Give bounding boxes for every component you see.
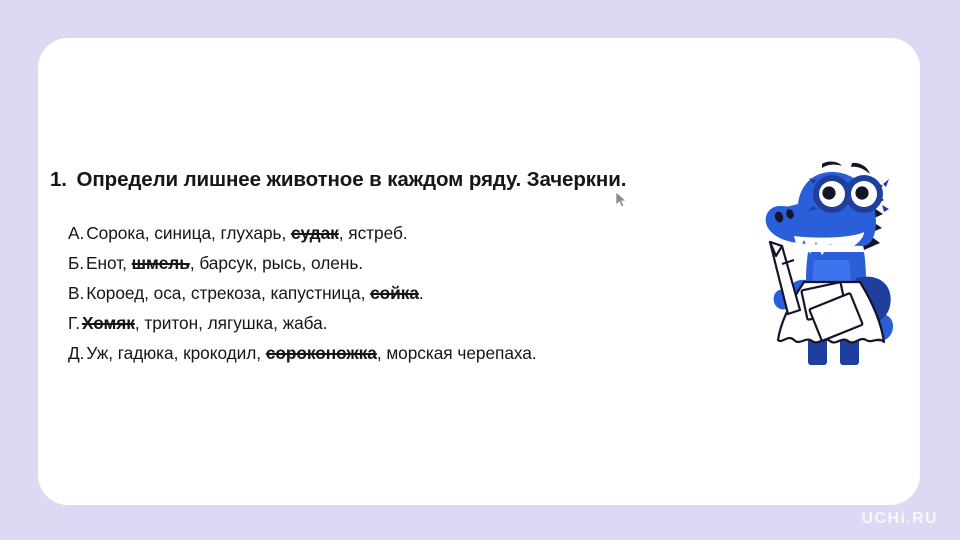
answer-row-label: Д.: [68, 343, 84, 363]
answer-row[interactable]: В.Короед, оса, стрекоза, капустница, сой…: [68, 278, 768, 308]
task-heading: 1. Определи лишнее животное в каждом ряд…: [50, 168, 626, 192]
answer-row-label: Б.: [68, 253, 84, 273]
struck-out-word[interactable]: Хомяк: [82, 313, 135, 333]
answer-row[interactable]: Д.Уж, гадюка, крокодил, сороконожка, мор…: [68, 338, 768, 368]
answer-row-text: Уж, гадюка, крокодил,: [86, 343, 265, 363]
answer-rows: А.Сорока, синица, глухарь, судак, ястреб…: [68, 218, 768, 368]
slide-canvas: 1. Определи лишнее животное в каждом ряд…: [0, 0, 960, 540]
struck-out-word[interactable]: шмель: [132, 253, 190, 273]
answer-row-text: Короед, оса, стрекоза, капустница,: [86, 283, 370, 303]
answer-row-text: , тритон, лягушка, жаба.: [135, 313, 328, 333]
answer-row-text: Сорока, синица, глухарь,: [86, 223, 291, 243]
answer-row[interactable]: А.Сорока, синица, глухарь, судак, ястреб…: [68, 218, 768, 248]
task-number: 1.: [50, 168, 67, 191]
answer-row[interactable]: Г.Хомяк, тритон, лягушка, жаба.: [68, 308, 768, 338]
answer-row-label: Г.: [68, 313, 80, 333]
mouse-cursor-icon: [615, 191, 629, 209]
uchi-ru-logo: UCHi.RU: [862, 510, 938, 528]
mascot-blue-dinosaur-student: [752, 160, 912, 365]
answer-row[interactable]: Б.Енот, шмель, барсук, рысь, олень.: [68, 248, 768, 278]
task-instruction: Определи лишнее животное в каждом ряду. …: [77, 168, 627, 191]
answer-row-text: Енот,: [86, 253, 132, 273]
answer-row-label: В.: [68, 283, 84, 303]
answer-row-text: , морская черепаха.: [377, 343, 537, 363]
answer-row-text: , ястреб.: [339, 223, 408, 243]
struck-out-word[interactable]: сороконожка: [266, 343, 377, 363]
answer-row-text: , барсук, рысь, олень.: [190, 253, 363, 273]
answer-row-label: А.: [68, 223, 84, 243]
struck-out-word[interactable]: сойка: [370, 283, 419, 303]
struck-out-word[interactable]: судак: [291, 223, 339, 243]
answer-row-text: .: [419, 283, 424, 303]
